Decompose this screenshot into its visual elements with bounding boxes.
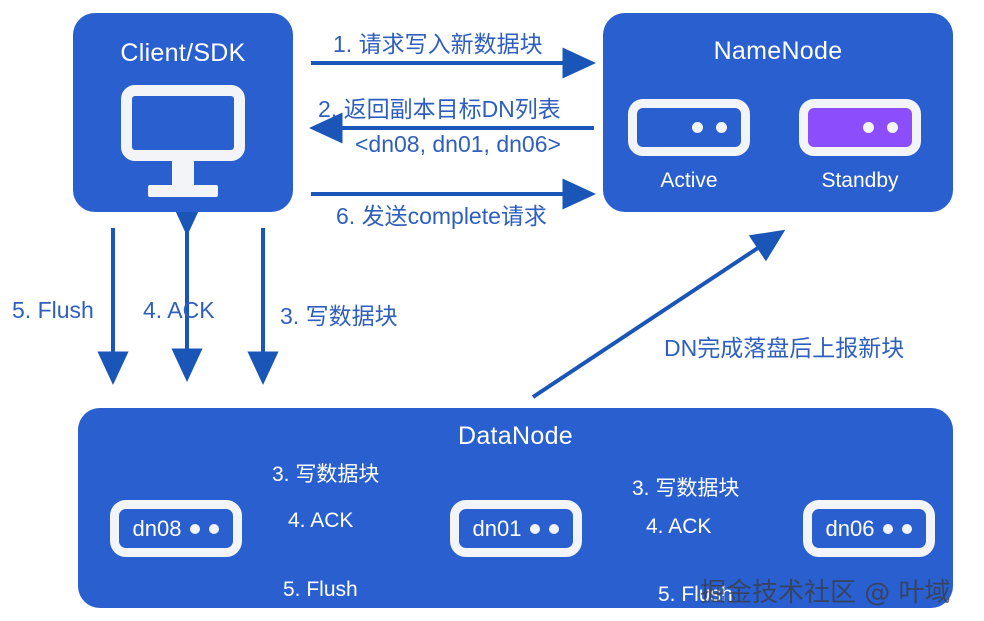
led-dot <box>530 524 540 534</box>
datanode-title: DataNode <box>78 422 953 451</box>
client-sdk-title: Client/SDK <box>73 39 293 68</box>
arrow-dn-report <box>533 232 782 397</box>
diagram-canvas: Client/SDK NameNode Active Standby DataN… <box>0 0 984 621</box>
pipeline-label-ack-left: 4. ACK <box>288 509 353 533</box>
client-sdk-box[interactable]: Client/SDK <box>73 13 293 212</box>
flow-label-step-4-vertical: 4. ACK <box>143 297 215 324</box>
flow-sublabel-step-2: <dn08, dn01, dn06> <box>355 131 561 158</box>
namenode-active-label: Active <box>628 169 750 193</box>
led-dot <box>883 524 893 534</box>
namenode-active-node[interactable]: Active <box>628 99 750 193</box>
flow-label-dn-report: DN完成落盘后上报新块 <box>664 329 904 363</box>
flow-label-step-6: 6. 发送complete请求 <box>336 197 547 231</box>
pipeline-label-write-left: 3. 写数据块 <box>272 458 379 488</box>
led-dot <box>209 524 219 534</box>
namenode-standby-node[interactable]: Standby <box>799 99 921 193</box>
pipeline-label-flush-left: 5. Flush <box>283 578 358 602</box>
led-dot <box>190 524 200 534</box>
namenode-box[interactable]: NameNode Active Standby <box>603 13 953 212</box>
datanode-chip-dn08[interactable]: dn08 <box>110 500 242 557</box>
flow-label-step-1: 1. 请求写入新数据块 <box>333 25 543 59</box>
monitor-icon <box>121 85 245 197</box>
datanode-chip-dn08-label: dn08 <box>133 516 182 542</box>
datanode-chip-dn06[interactable]: dn06 <box>803 500 935 557</box>
flow-label-step-3-vertical: 3. 写数据块 <box>280 297 398 331</box>
led-dot <box>549 524 559 534</box>
watermark: 掘金技术社区 @ 叶域 <box>700 572 951 609</box>
pipeline-label-write-right: 3. 写数据块 <box>632 472 739 502</box>
datanode-chip-dn01-label: dn01 <box>473 516 522 542</box>
flow-label-step-2: 2. 返回副本目标DN列表 <box>318 90 561 124</box>
server-icon-active <box>628 99 750 156</box>
pipeline-label-ack-right: 4. ACK <box>646 515 711 539</box>
datanode-chip-dn01[interactable]: dn01 <box>450 500 582 557</box>
led-dot <box>902 524 912 534</box>
datanode-chip-dn06-label: dn06 <box>826 516 875 542</box>
flow-label-step-5-vertical: 5. Flush <box>12 297 94 324</box>
server-icon-standby <box>799 99 921 156</box>
namenode-title: NameNode <box>603 37 953 66</box>
namenode-standby-label: Standby <box>799 169 921 193</box>
